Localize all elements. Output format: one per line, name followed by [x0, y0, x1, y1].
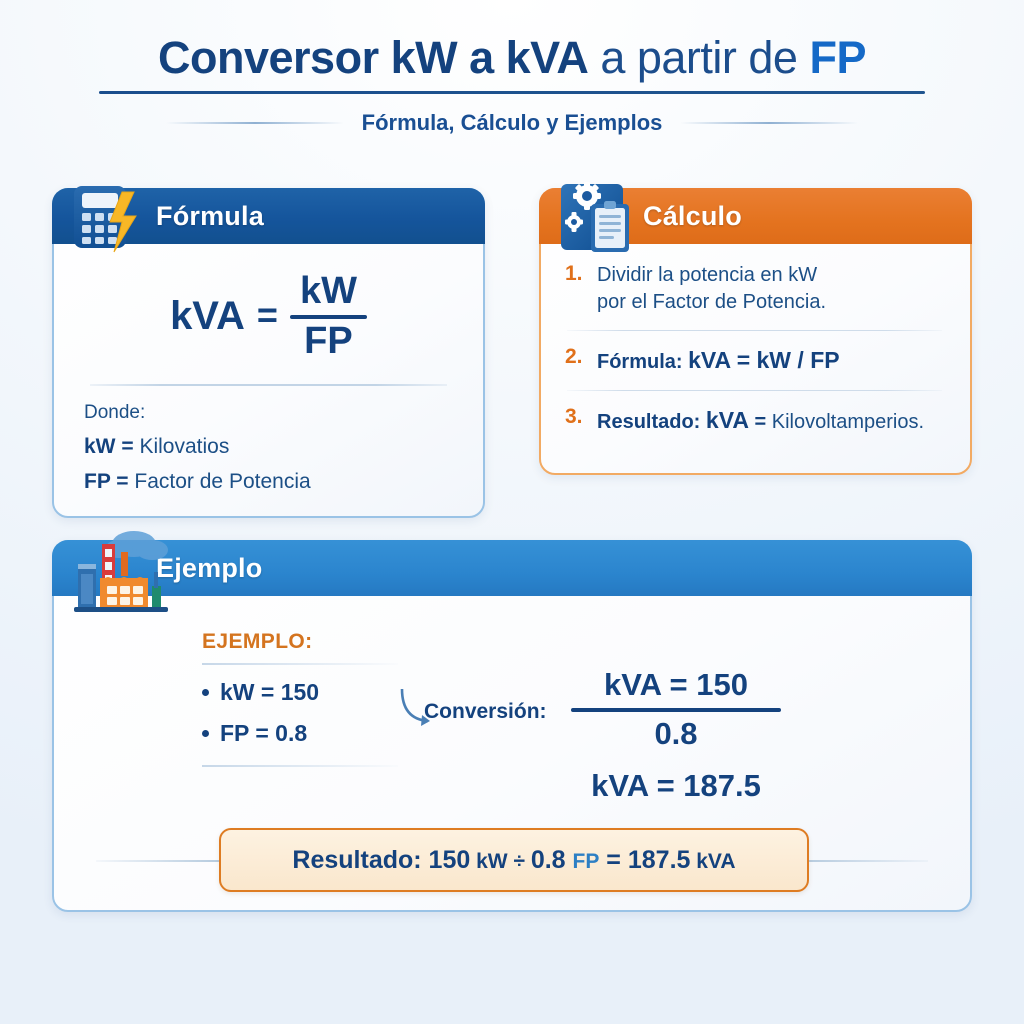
where-label: Donde: — [84, 402, 453, 424]
step-text-3: Resultado: kVA = Kilovoltamperios. — [597, 405, 924, 436]
calculo-step-2: 2. Fórmula: kVA = kW / FP — [565, 345, 944, 376]
definition-term-kw: kW — [84, 435, 116, 458]
subtitle-rule-left — [166, 122, 344, 124]
definition-sep-kw: = — [116, 435, 140, 458]
result-label: Resultado: — [292, 846, 428, 874]
calculator-bolt-icon — [64, 176, 152, 260]
definition-row-kw: kW = Kilovatios — [84, 435, 453, 459]
result-kw-value: 150 — [429, 846, 471, 874]
calculo-step-3: 3. Resultado: kVA = Kilovoltamperios. — [565, 405, 944, 436]
step-2-label: Fórmula: — [597, 351, 683, 373]
ejemplo-conversion-label: Conversión: — [424, 700, 547, 724]
calculo-separator-1 — [567, 330, 942, 331]
step-number-1: 1. — [565, 262, 586, 286]
fraction-bar — [290, 315, 367, 319]
ejemplo-card-body: EJEMPLO: kW = 150 FP = 0.8 Conversión: k… — [54, 542, 970, 910]
title-fp: FP — [809, 32, 866, 83]
cards-bottom-row: Ejemplo — [52, 540, 972, 912]
definition-row-fp: FP = Factor de Potencia — [84, 470, 453, 494]
ejemplo-final-result: kVA = 187.5 — [546, 768, 806, 804]
ejemplo-bullet-kw: kW = 150 — [202, 679, 422, 706]
result-fp-unit: FP — [573, 850, 600, 873]
ejemplo-fraction-bar — [571, 708, 781, 712]
result-banner: Resultado: 150 kW ÷ 0.8 FP = 187.5 kVA — [219, 828, 809, 892]
title-kva: kVA — [506, 32, 589, 83]
definition-meaning-kw: Kilovatios — [139, 435, 229, 458]
bullet-dot-icon — [202, 730, 209, 737]
page-header: Conversor kW a kVA a partir de FP Fórmul… — [0, 0, 1024, 136]
calculo-card-title: Cálculo — [643, 201, 742, 232]
page-subtitle: Fórmula, Cálculo y Ejemplos — [362, 110, 663, 136]
ejemplo-calculation: kVA = 150 0.8 kVA = 187.5 — [546, 667, 806, 804]
result-equals: = — [599, 846, 628, 874]
step-2-value: kVA = kW / FP — [688, 347, 839, 373]
result-kva-unit: kVA — [690, 850, 735, 873]
step-3-term: kVA — [706, 407, 749, 433]
equation-fraction: kW FP — [290, 272, 367, 362]
title-middle: a partir de — [588, 32, 809, 83]
ejemplo-bullet-fp: FP = 0.8 — [202, 720, 422, 747]
gears-clipboard-icon — [551, 176, 639, 260]
fraction-denominator: FP — [294, 322, 363, 362]
step-3-value: Kilovoltamperios. — [772, 411, 924, 433]
step-3-label: Resultado: — [597, 411, 700, 433]
step-1-line-1: Dividir la potencia en kW — [597, 264, 817, 286]
title-lead: Conversor — [158, 32, 391, 83]
ejemplo-numerator: kVA = 150 — [546, 667, 806, 703]
calculo-step-1: 1. Dividir la potencia en kW por el Fact… — [565, 262, 944, 316]
result-text: Resultado: 150 kW ÷ 0.8 FP = 187.5 kVA — [292, 846, 735, 875]
formula-card-title: Fórmula — [156, 201, 264, 232]
ejemplo-rule-bottom — [202, 765, 398, 767]
result-divide-symbol: ÷ — [513, 850, 530, 873]
formula-equation: kVA = kW FP — [84, 272, 453, 362]
result-kva-value: 187.5 — [628, 846, 691, 874]
calculo-separator-2 — [567, 390, 942, 391]
formula-divider — [90, 384, 447, 386]
ejemplo-bullet-fp-text: FP = 0.8 — [220, 720, 307, 747]
formula-card: Fórmula — [52, 188, 485, 518]
equation-equals: = — [257, 294, 278, 340]
cards-top-row: Fórmula — [52, 188, 972, 518]
step-number-3: 3. — [565, 405, 586, 429]
step-text-2: Fórmula: kVA = kW / FP — [597, 345, 840, 376]
definition-sep-fp: = — [110, 470, 134, 493]
step-1-line-2: por el Factor de Potencia. — [597, 291, 826, 313]
ejemplo-caption: EJEMPLO: — [202, 630, 422, 654]
calculo-card: Cálculo — [539, 188, 972, 475]
step-number-2: 2. — [565, 345, 586, 369]
subtitle-row: Fórmula, Cálculo y Ejemplos — [0, 110, 1024, 136]
ejemplo-rule-top — [202, 663, 398, 665]
result-kw-unit: kW — [470, 850, 513, 873]
definition-term-fp: FP — [84, 470, 110, 493]
ejemplo-bullet-kw-text: kW = 150 — [220, 679, 319, 706]
equation-lhs: kVA — [170, 294, 245, 339]
result-fp-value: 0.8 — [531, 846, 573, 874]
bullet-dot-icon — [202, 689, 209, 696]
step-text-1: Dividir la potencia en kW por el Factor … — [597, 262, 826, 316]
ejemplo-card: Ejemplo — [52, 540, 972, 912]
step-3-sep: = — [749, 411, 772, 433]
subtitle-rule-right — [680, 122, 858, 124]
fraction-numerator: kW — [290, 272, 367, 312]
title-kw: kW — [391, 32, 458, 83]
page-title: Conversor kW a kVA a partir de FP — [0, 34, 1024, 81]
title-a: a — [457, 32, 506, 83]
ejemplo-inputs: EJEMPLO: kW = 150 FP = 0.8 — [202, 630, 422, 767]
ejemplo-denominator: 0.8 — [546, 716, 806, 752]
definition-meaning-fp: Factor de Potencia — [134, 470, 310, 493]
title-underline — [99, 91, 925, 94]
